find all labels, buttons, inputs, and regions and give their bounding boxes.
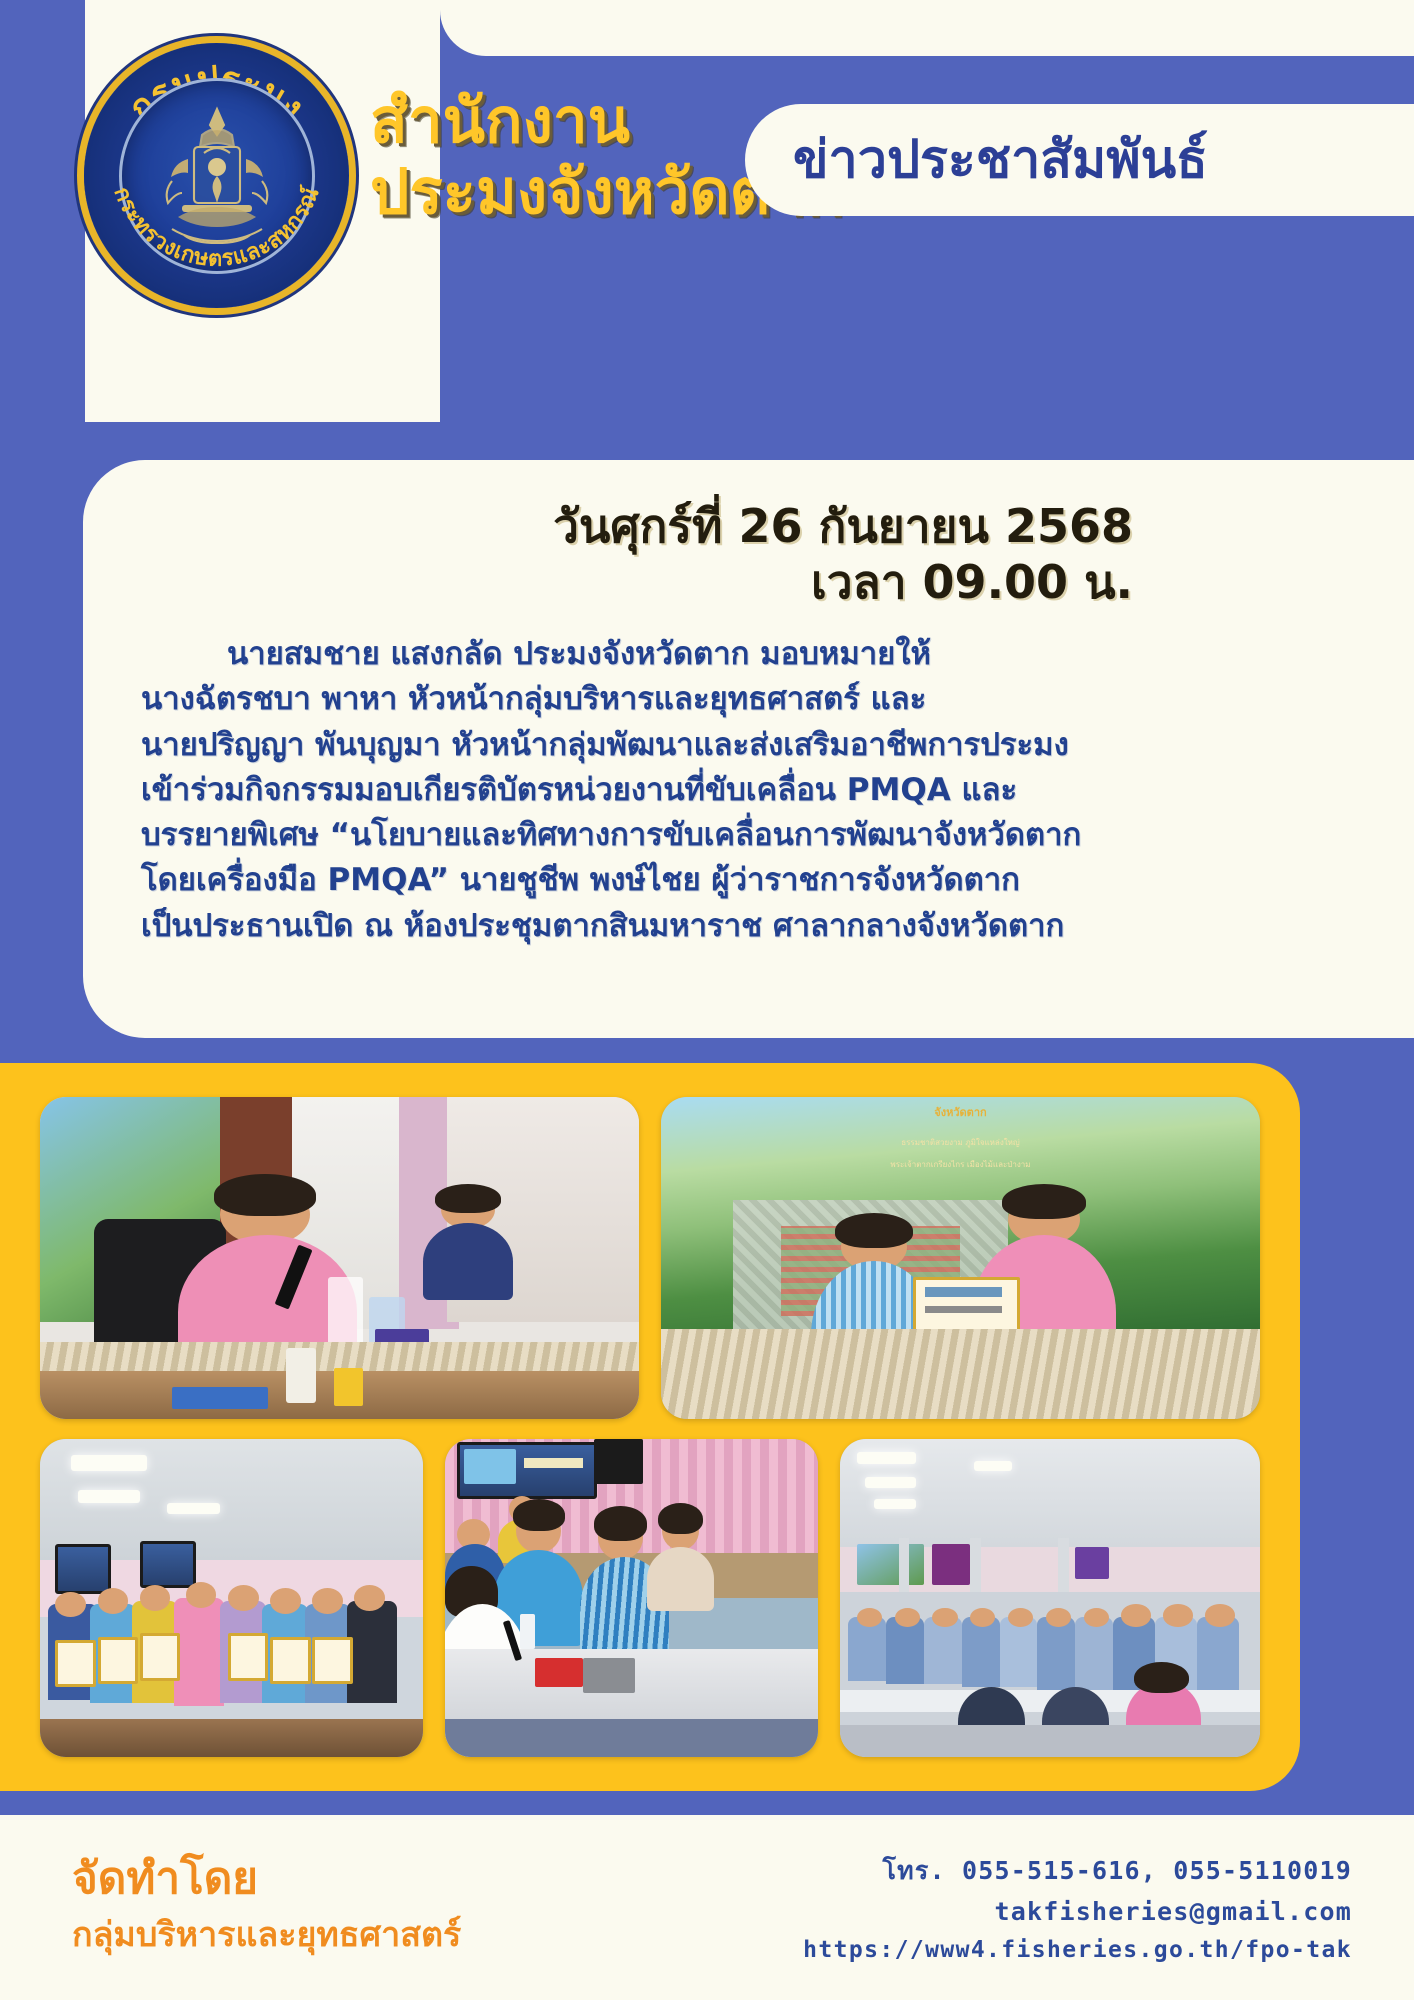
- news-category-badge-label: ข่าวประชาสัมพันธ์: [793, 134, 1208, 186]
- announcement-card: วันศุกร์ที่ 26 กันยายน 2568 เวลา 09.00 น…: [83, 460, 1414, 1038]
- event-date: วันศุกร์ที่ 26 กันยายน 2568: [123, 498, 1414, 554]
- photo-participants-seated: [445, 1439, 818, 1757]
- body-line-4: เข้าร่วมกิจกรรมมอบเกียรติบัตรหน่วยงานที่…: [141, 768, 1123, 813]
- news-category-badge: ข่าวประชาสัมพันธ์: [745, 104, 1414, 216]
- title-line-1: สำนักงาน: [370, 86, 790, 157]
- footer: จัดทำโดย กลุ่มบริหารและยุทธศาสตร์ โทร. 0…: [0, 1815, 1414, 2000]
- event-time: เวลา 09.00 น.: [123, 554, 1414, 610]
- poster-root: กรมประมง: [0, 0, 1414, 2000]
- announcement-body: นายสมชาย แสงกลัด ประมงจังหวัดตาก มอบหมาย…: [123, 632, 1414, 949]
- body-line-1: นายสมชาย แสงกลัด ประมงจังหวัดตาก มอบหมาย…: [141, 632, 1123, 677]
- footer-email[interactable]: takfisheries@gmail.com: [803, 1892, 1352, 1933]
- photo-row-bottom: [40, 1439, 1260, 1757]
- footer-phone: โทร. 055-515-616, 055-5110019: [803, 1851, 1352, 1892]
- department-of-fisheries-seal-icon: กรมประมง: [84, 43, 349, 308]
- body-line-3: นายปริญญา พันบุญมา หัวหน้ากลุ่มพัฒนาและส…: [141, 723, 1123, 768]
- footer-prepared-by-unit: กลุ่มบริหารและยุทธศาสตร์: [72, 1917, 461, 1954]
- footer-prepared-by: จัดทำโดย กลุ่มบริหารและยุทธศาสตร์: [72, 1855, 461, 1955]
- body-line-5: บรรยายพิเศษ “นโยบายและทิศทางการขับเคลื่อ…: [141, 813, 1123, 858]
- header-top-cream-band: [440, 0, 1414, 56]
- page-title: สำนักงาน ประมงจังหวัดตาก: [370, 86, 790, 227]
- photo-conference-hall: [840, 1439, 1260, 1757]
- body-line-6: โดยเครื่องมือ PMQA” นายชูชีพ พงษ์ไชย ผู้…: [141, 858, 1123, 903]
- photo-certificate-handover: จังหวัดตาก ธรรมชาติสวยงาม ภูมิใจแหล่งใหญ…: [661, 1097, 1260, 1419]
- title-line-2: ประมงจังหวัดตาก: [370, 157, 790, 228]
- photo-row-top: จังหวัดตาก ธรรมชาติสวยงาม ภูมิใจแหล่งใหญ…: [40, 1097, 1260, 1419]
- photo-gallery-panel: จังหวัดตาก ธรรมชาติสวยงาม ภูมิใจแหล่งใหญ…: [0, 1063, 1300, 1791]
- body-line-2: นางฉัตรชบา พาหา หัวหน้ากลุ่มบริหารและยุท…: [141, 677, 1123, 722]
- photo-group-with-certificates: [40, 1439, 423, 1757]
- seal-inner-disc: [119, 78, 315, 274]
- seal-emblem-icon: [142, 101, 292, 251]
- body-line-7: เป็นประธานเปิด ณ ห้องประชุมตากสินมหาราช …: [141, 904, 1123, 949]
- footer-prepared-by-label: จัดทำโดย: [72, 1855, 461, 1903]
- photo-speaker-at-table: [40, 1097, 639, 1419]
- footer-contact-block: โทร. 055-515-616, 055-5110019 takfisheri…: [803, 1851, 1352, 1969]
- footer-website[interactable]: https://www4.fisheries.go.th/fpo-tak: [803, 1932, 1352, 1969]
